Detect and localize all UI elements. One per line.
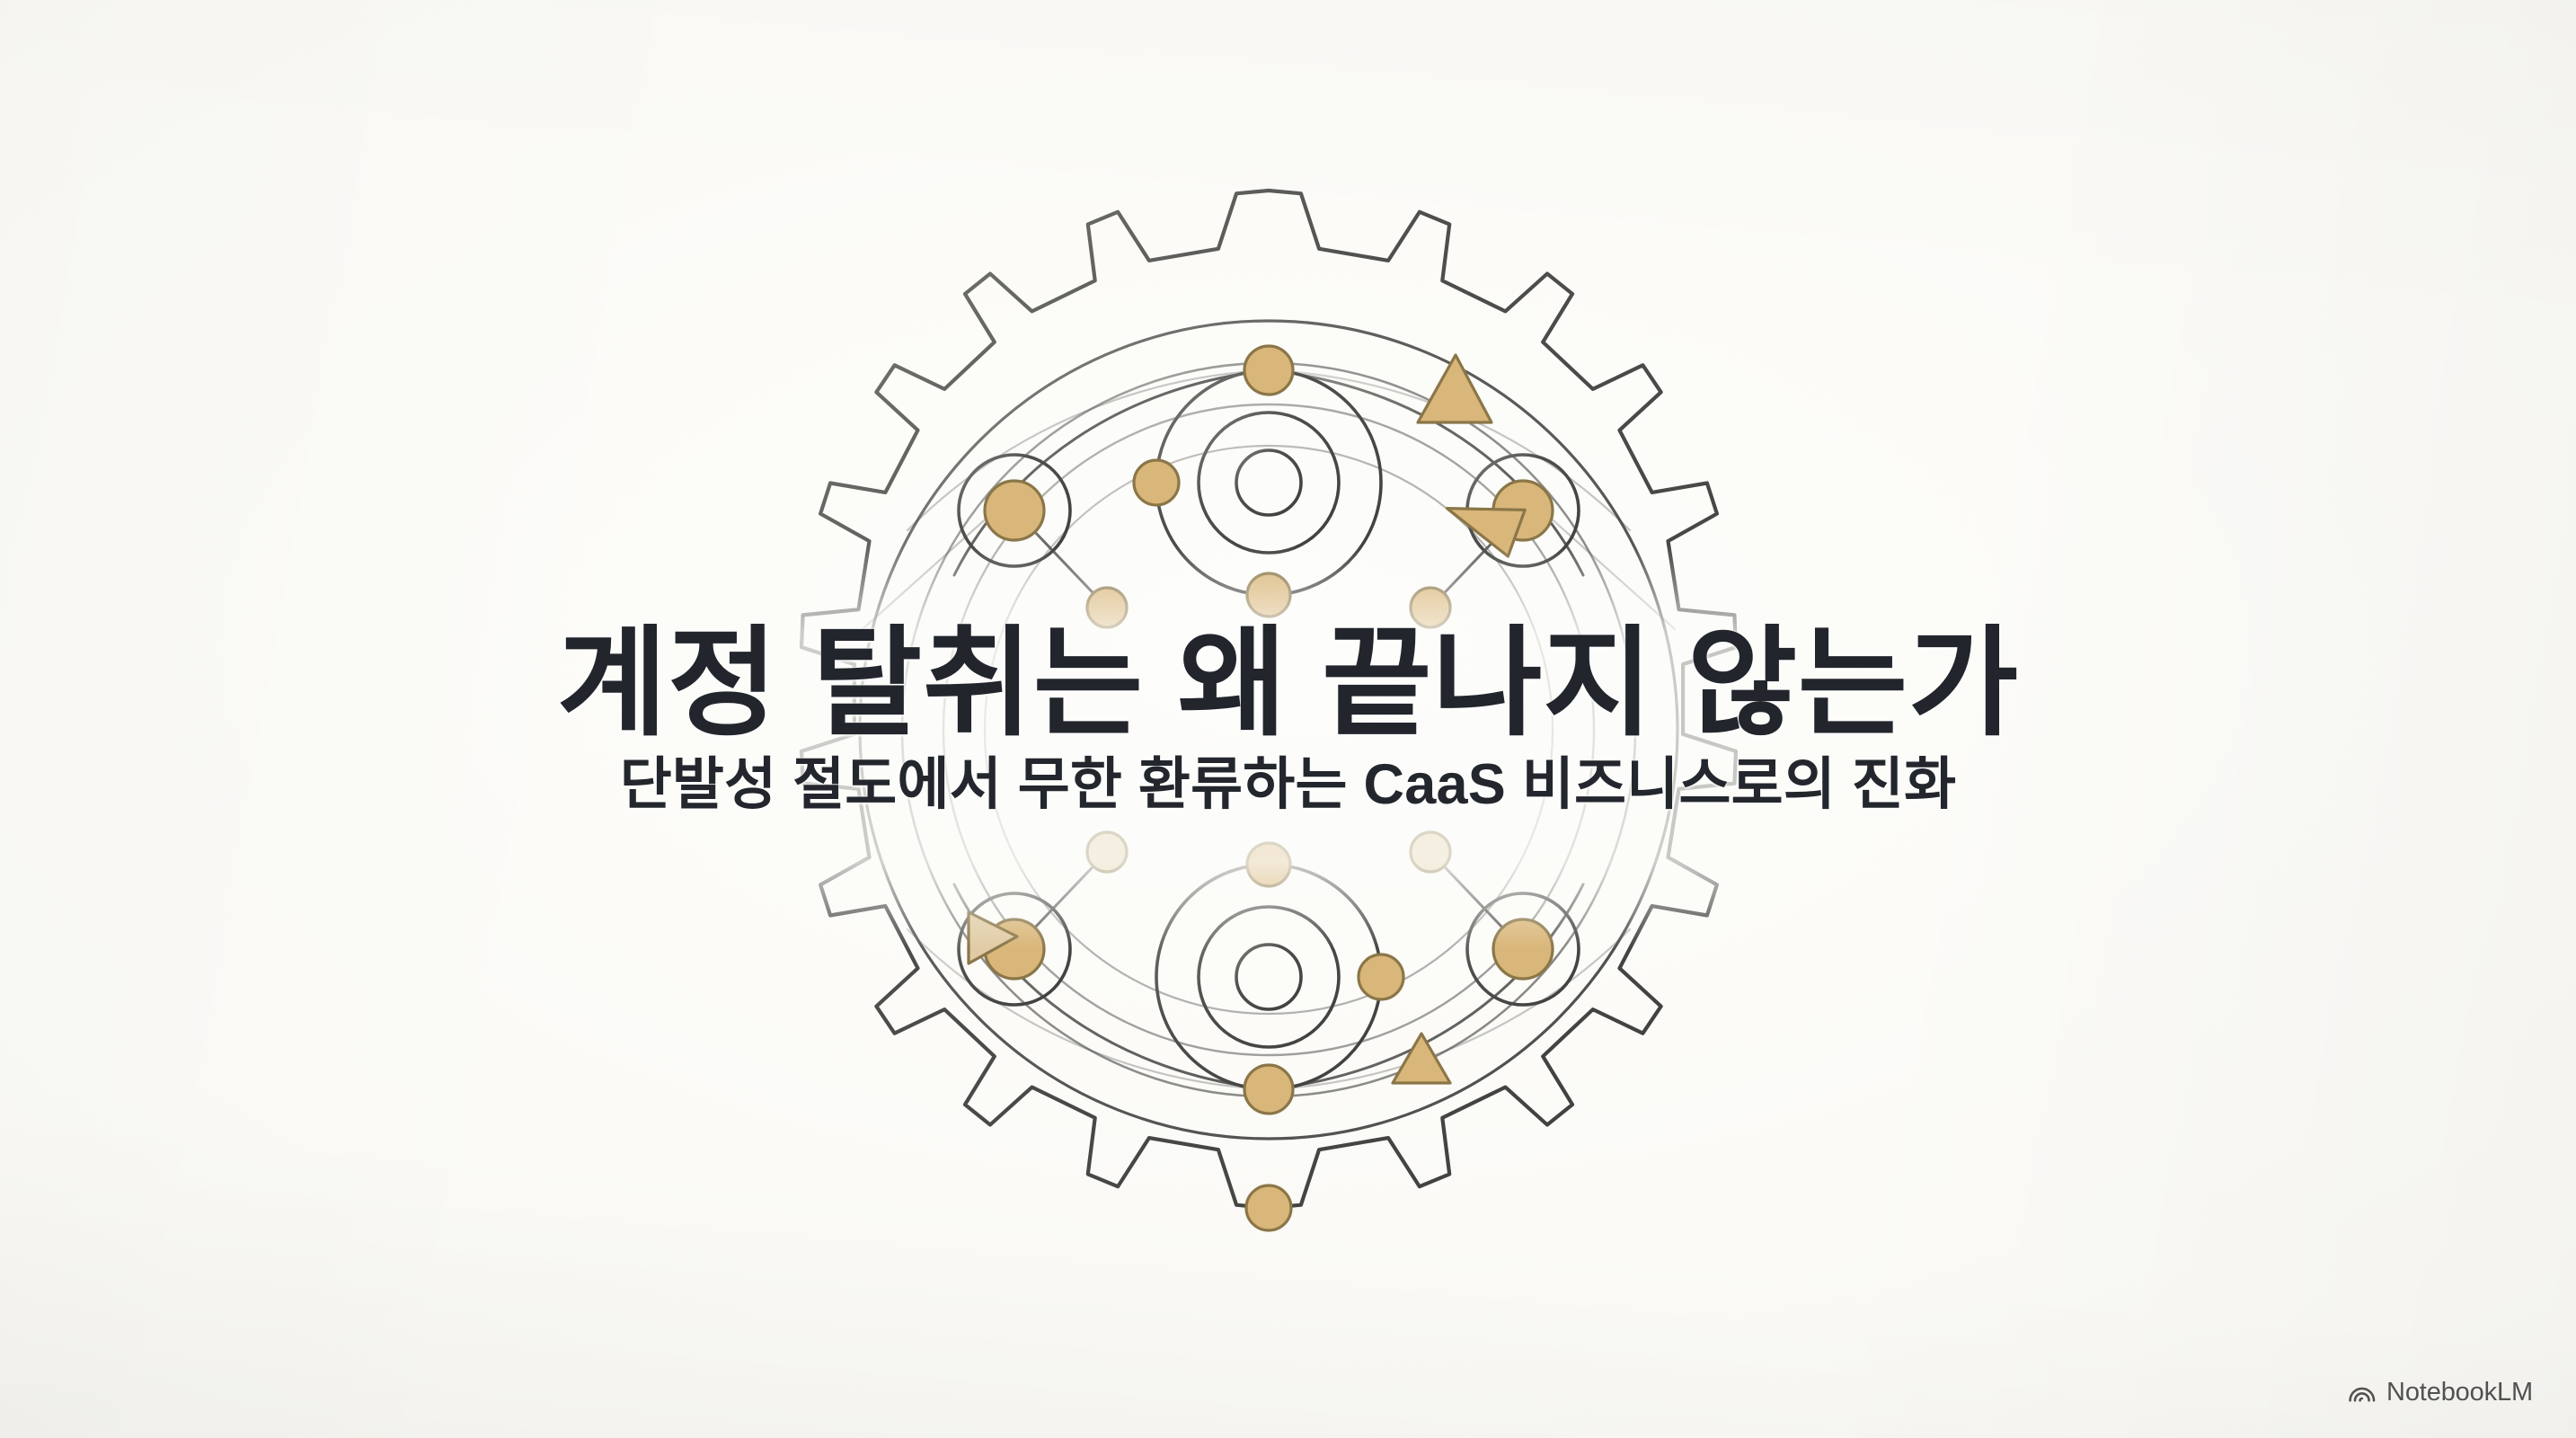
gear-connector-lines (954, 370, 1583, 1089)
title-slide: 계정 탈취는 왜 끝나지 않는가 단발성 절도에서 무한 환류하는 CaaS 비… (0, 0, 2576, 1438)
hub-bottom (1156, 865, 1381, 1089)
node-markers (985, 346, 1553, 1230)
notebooklm-watermark-label: NotebookLM (2386, 1378, 2533, 1407)
hub-top (1156, 370, 1381, 595)
gear-network-illustration (0, 0, 2576, 1438)
notebooklm-spiral-icon (2348, 1378, 2377, 1407)
notebooklm-watermark: NotebookLM (2348, 1378, 2533, 1407)
